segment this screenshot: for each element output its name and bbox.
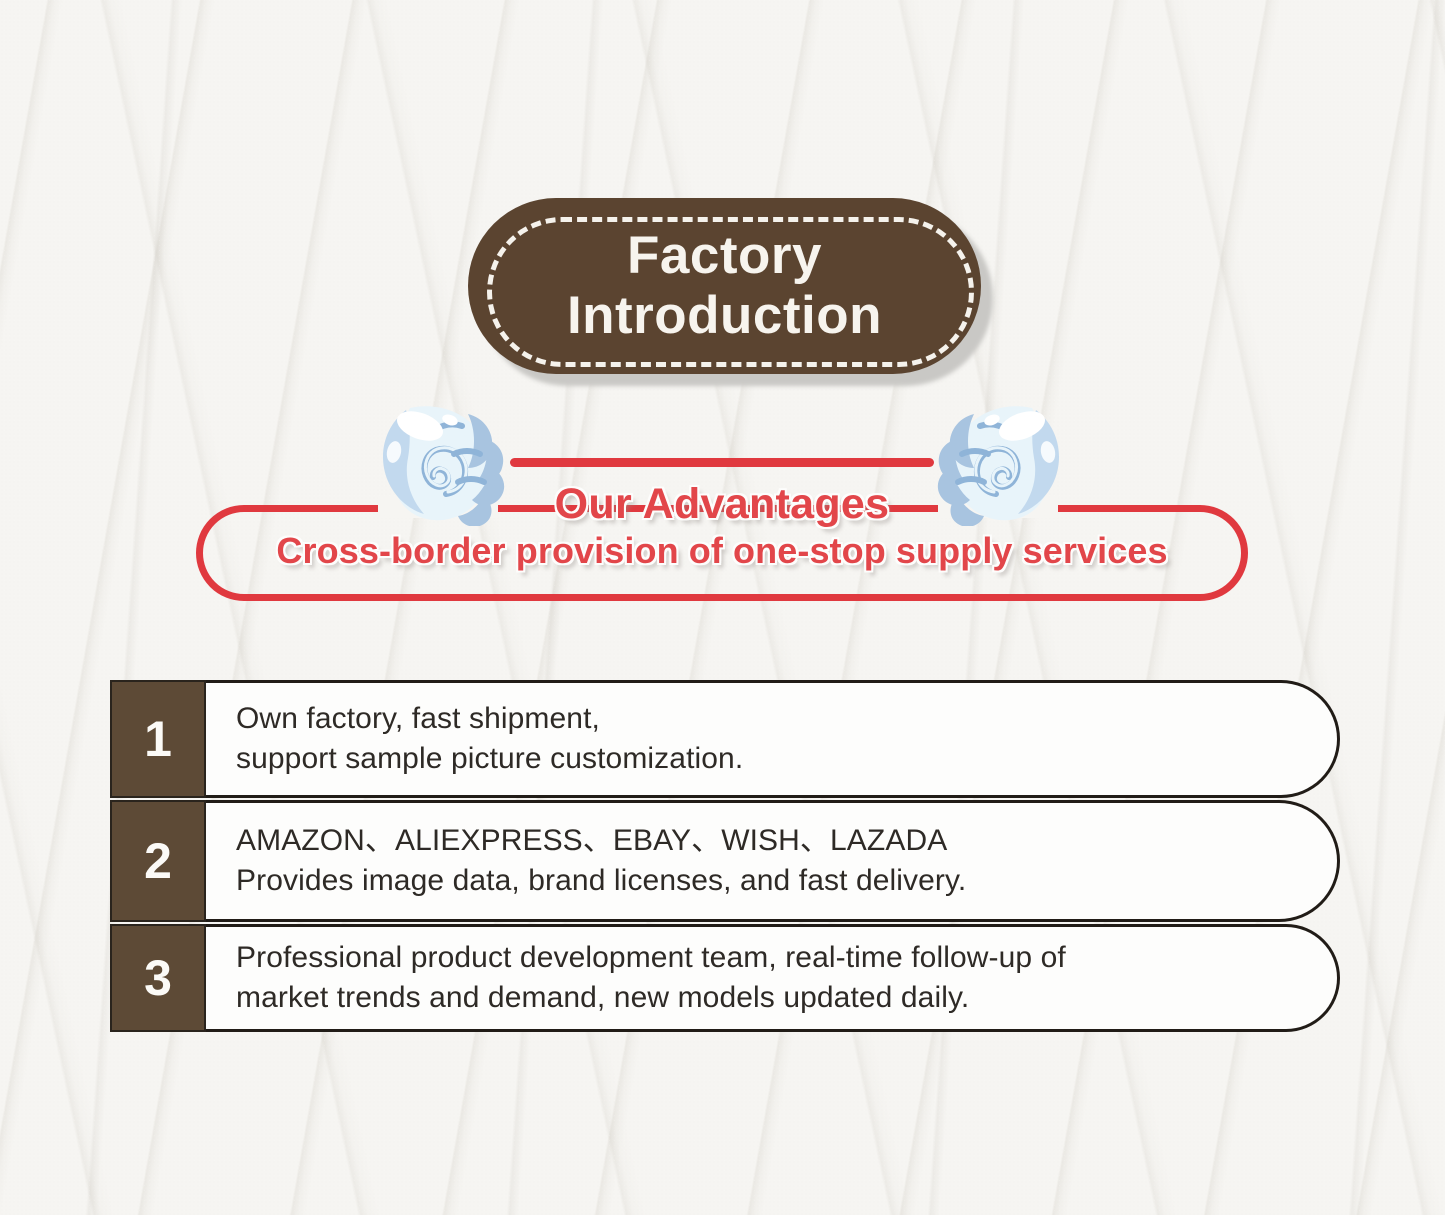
badge-title-line-2: Introduction [567, 286, 882, 346]
our-advantages-subtitle: Cross-border provision of one-stop suppl… [196, 530, 1248, 571]
advantage-text-1: Own factory, fast shipment, support samp… [236, 699, 743, 778]
badge-title-line-1: Factory [627, 226, 822, 286]
ribbon-top-rule [510, 458, 934, 467]
badge-title: Factory Introduction [468, 198, 981, 374]
our-advantages-title: Our Advantages [196, 482, 1248, 527]
advantage-number-badge-3: 3 [110, 924, 206, 1032]
advantage-body-3: Professional product development team, r… [204, 924, 1340, 1032]
poster-canvas: Factory Introduction [0, 0, 1445, 1215]
advantage-body-2: AMAZON、ALIEXPRESS、EBAY、WISH、LAZADA Provi… [204, 800, 1340, 922]
advantage-body-1: Own factory, fast shipment, support samp… [204, 680, 1340, 798]
advantage-item-2: 2 AMAZON、ALIEXPRESS、EBAY、WISH、LAZADA Pro… [110, 800, 1340, 922]
advantage-item-3: 3 Professional product development team,… [110, 924, 1340, 1032]
ribbon-text-block: Our Advantages Cross-border provision of… [196, 482, 1248, 572]
advantage-number-badge-1: 1 [110, 680, 206, 798]
advantage-number-badge-2: 2 [110, 800, 206, 922]
our-advantages-ribbon: Our Advantages Cross-border provision of… [196, 398, 1256, 613]
factory-introduction-badge: Factory Introduction [468, 198, 993, 386]
advantages-list: 1 Own factory, fast shipment, support sa… [110, 680, 1340, 1034]
advantage-text-2: AMAZON、ALIEXPRESS、EBAY、WISH、LAZADA Provi… [236, 821, 966, 900]
advantage-text-3: Professional product development team, r… [236, 938, 1066, 1017]
advantage-item-1: 1 Own factory, fast shipment, support sa… [110, 680, 1340, 798]
